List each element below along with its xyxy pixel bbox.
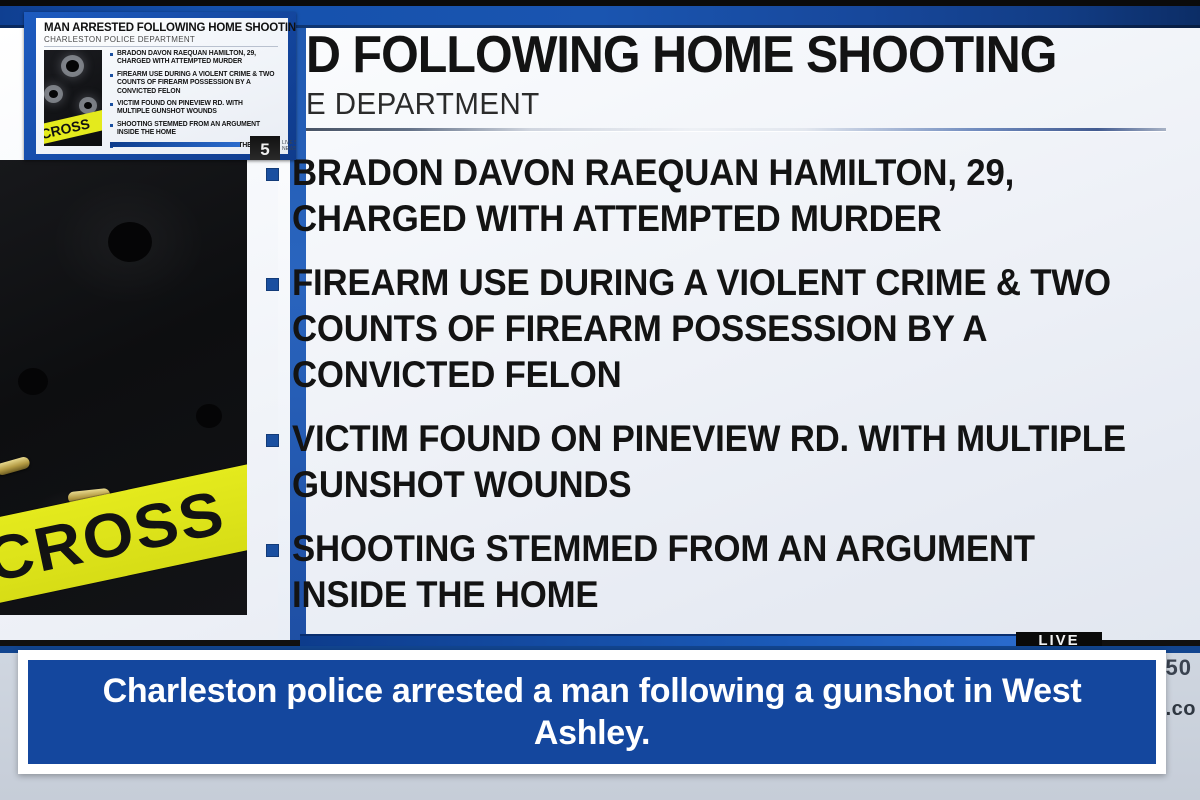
pip-lower-blue-bar <box>110 142 240 147</box>
bullet-hole-icon <box>84 102 92 109</box>
graphic-bullet-list: BRADON DAVON RAEQUAN HAMILTON, 29, CHARG… <box>262 150 1200 700</box>
pip-crime-scene-photo: CROSS <box>44 50 102 146</box>
bullet-text: VICTIM FOUND ON PINEVIEW RD. WITH MULTIP… <box>292 416 1153 508</box>
bullet-text: VICTIM FOUND ON PINEVIEW RD. WITH MULTIP… <box>117 100 277 117</box>
lower-blue-bar <box>300 636 1100 646</box>
bullet-hole-icon <box>49 90 58 98</box>
bullet-square-icon <box>266 278 279 291</box>
crime-scene-photo: CROSS <box>0 160 247 615</box>
bullet-square-icon <box>110 124 113 127</box>
bullet-square-icon <box>110 74 113 77</box>
bullet-square-icon <box>110 103 113 106</box>
graphic-subheadline: E DEPARTMENT <box>306 86 1155 122</box>
pip-headline: MAN ARRESTED FOLLOWING HOME SHOOTING <box>44 22 284 35</box>
bullet-text: FIREARM USE DURING A VIOLENT CRIME & TWO… <box>117 71 277 96</box>
picture-in-picture-inset[interactable]: MAN ARRESTED FOLLOWING HOME SHOOTING CHA… <box>24 12 296 160</box>
station-logo-caption: LIVE 5 NEWS <box>282 140 296 152</box>
bullet-hole-icon <box>18 368 48 395</box>
graphic-headline: D FOLLOWING HOME SHOOTING <box>306 30 1200 84</box>
headline-divider-highlight <box>306 131 1166 132</box>
bullet-square-icon <box>266 544 279 557</box>
bullet-hole-icon <box>196 404 222 428</box>
bullet-square-icon <box>266 434 279 447</box>
pip-graphic-card: MAN ARRESTED FOLLOWING HOME SHOOTING CHA… <box>36 18 288 154</box>
station-logo: 5 <box>250 136 280 160</box>
caption-overlay: Charleston police arrested a man followi… <box>18 650 1166 774</box>
list-item: VICTIM FOUND ON PINEVIEW RD. WITH MULTIP… <box>110 100 282 117</box>
bullet-hole-icon <box>108 222 152 262</box>
bullet-square-icon <box>266 168 279 181</box>
pip-subheadline: CHARLESTON POLICE DEPARTMENT <box>44 35 284 45</box>
list-item: FIREARM USE DURING A VIOLENT CRIME & TWO… <box>110 71 282 96</box>
list-item: BRADON DAVON RAEQUAN HAMILTON, 29, CHARG… <box>262 150 1200 242</box>
bullet-text: FIREARM USE DURING A VIOLENT CRIME & TWO… <box>292 260 1153 398</box>
bullet-square-icon <box>110 53 113 56</box>
corner-number: 50 <box>1166 655 1192 681</box>
station-logo-number: 5 <box>260 141 269 158</box>
list-item: FIREARM USE DURING A VIOLENT CRIME & TWO… <box>262 260 1200 398</box>
bullet-text: BRADON DAVON RAEQUAN HAMILTON, 29, CHARG… <box>117 50 277 67</box>
list-item: VICTIM FOUND ON PINEVIEW RD. WITH MULTIP… <box>262 416 1200 508</box>
caption-text: Charleston police arrested a man followi… <box>44 670 1140 754</box>
list-item: SHOOTING STEMMED FROM AN ARGUMENT INSIDE… <box>262 526 1200 618</box>
list-item: BRADON DAVON RAEQUAN HAMILTON, 29, CHARG… <box>110 50 282 67</box>
bullet-text: SHOOTING STEMMED FROM AN ARGUMENT INSIDE… <box>292 526 1153 618</box>
bullet-text: BRADON DAVON RAEQUAN HAMILTON, 29, CHARG… <box>292 150 1153 242</box>
pip-headline-divider <box>44 46 278 47</box>
caption-blue-box: Charleston police arrested a man followi… <box>28 660 1156 764</box>
bullet-hole-icon <box>66 60 79 72</box>
